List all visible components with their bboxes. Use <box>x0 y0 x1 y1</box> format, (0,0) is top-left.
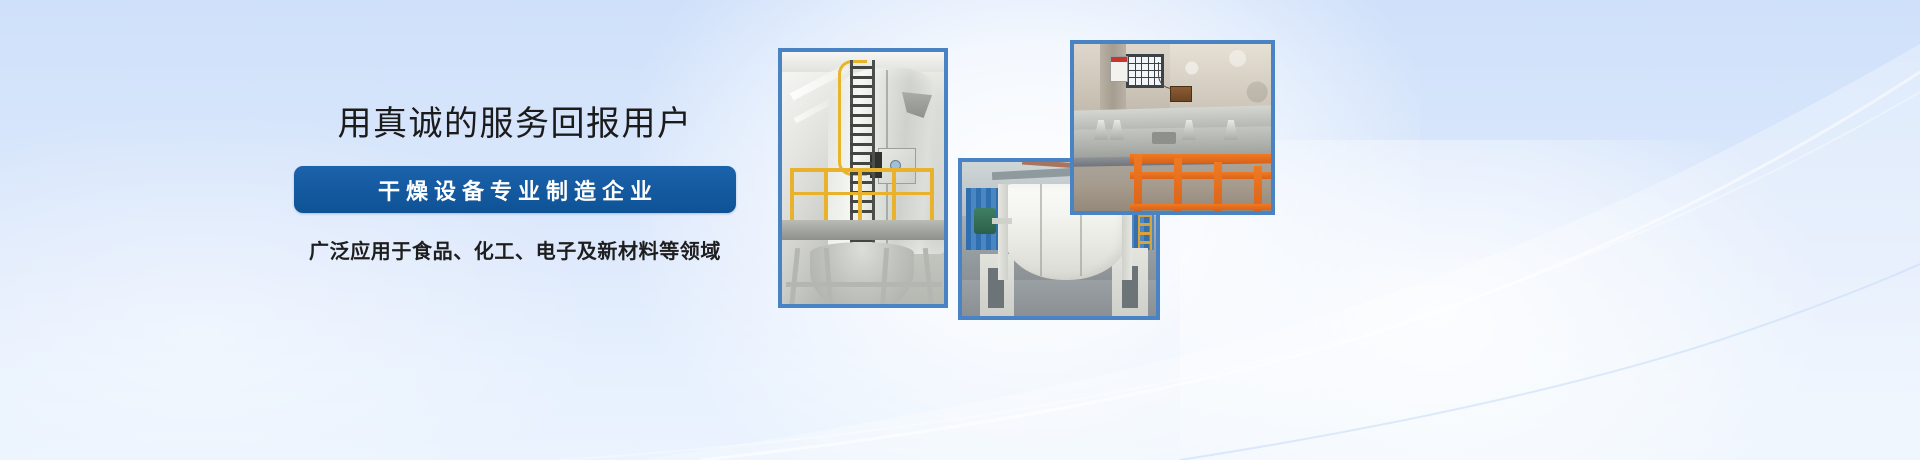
banner-subtitle: 广泛应用于食品、化工、电子及新材料等领域 <box>255 235 775 264</box>
banner-headline: 用真诚的服务回报用户 <box>255 104 775 144</box>
photo-spray-dryer-image <box>782 52 944 304</box>
banner-badge-label: 干燥设备专业制造企业 <box>372 174 658 206</box>
banner-badge: 干燥设备专业制造企业 <box>294 166 736 213</box>
photo-fluid-bed-dryer-image <box>1074 44 1271 211</box>
banner-text-block: 用真诚的服务回报用户 干燥设备专业制造企业 广泛应用于食品、化工、电子及新材料等… <box>255 104 775 264</box>
photo-fluid-bed-dryer[interactable] <box>1070 40 1275 215</box>
background-glow-right <box>1180 140 1820 460</box>
promo-banner: 用真诚的服务回报用户 干燥设备专业制造企业 广泛应用于食品、化工、电子及新材料等… <box>0 0 1920 460</box>
photo-spray-dryer[interactable] <box>778 48 948 308</box>
